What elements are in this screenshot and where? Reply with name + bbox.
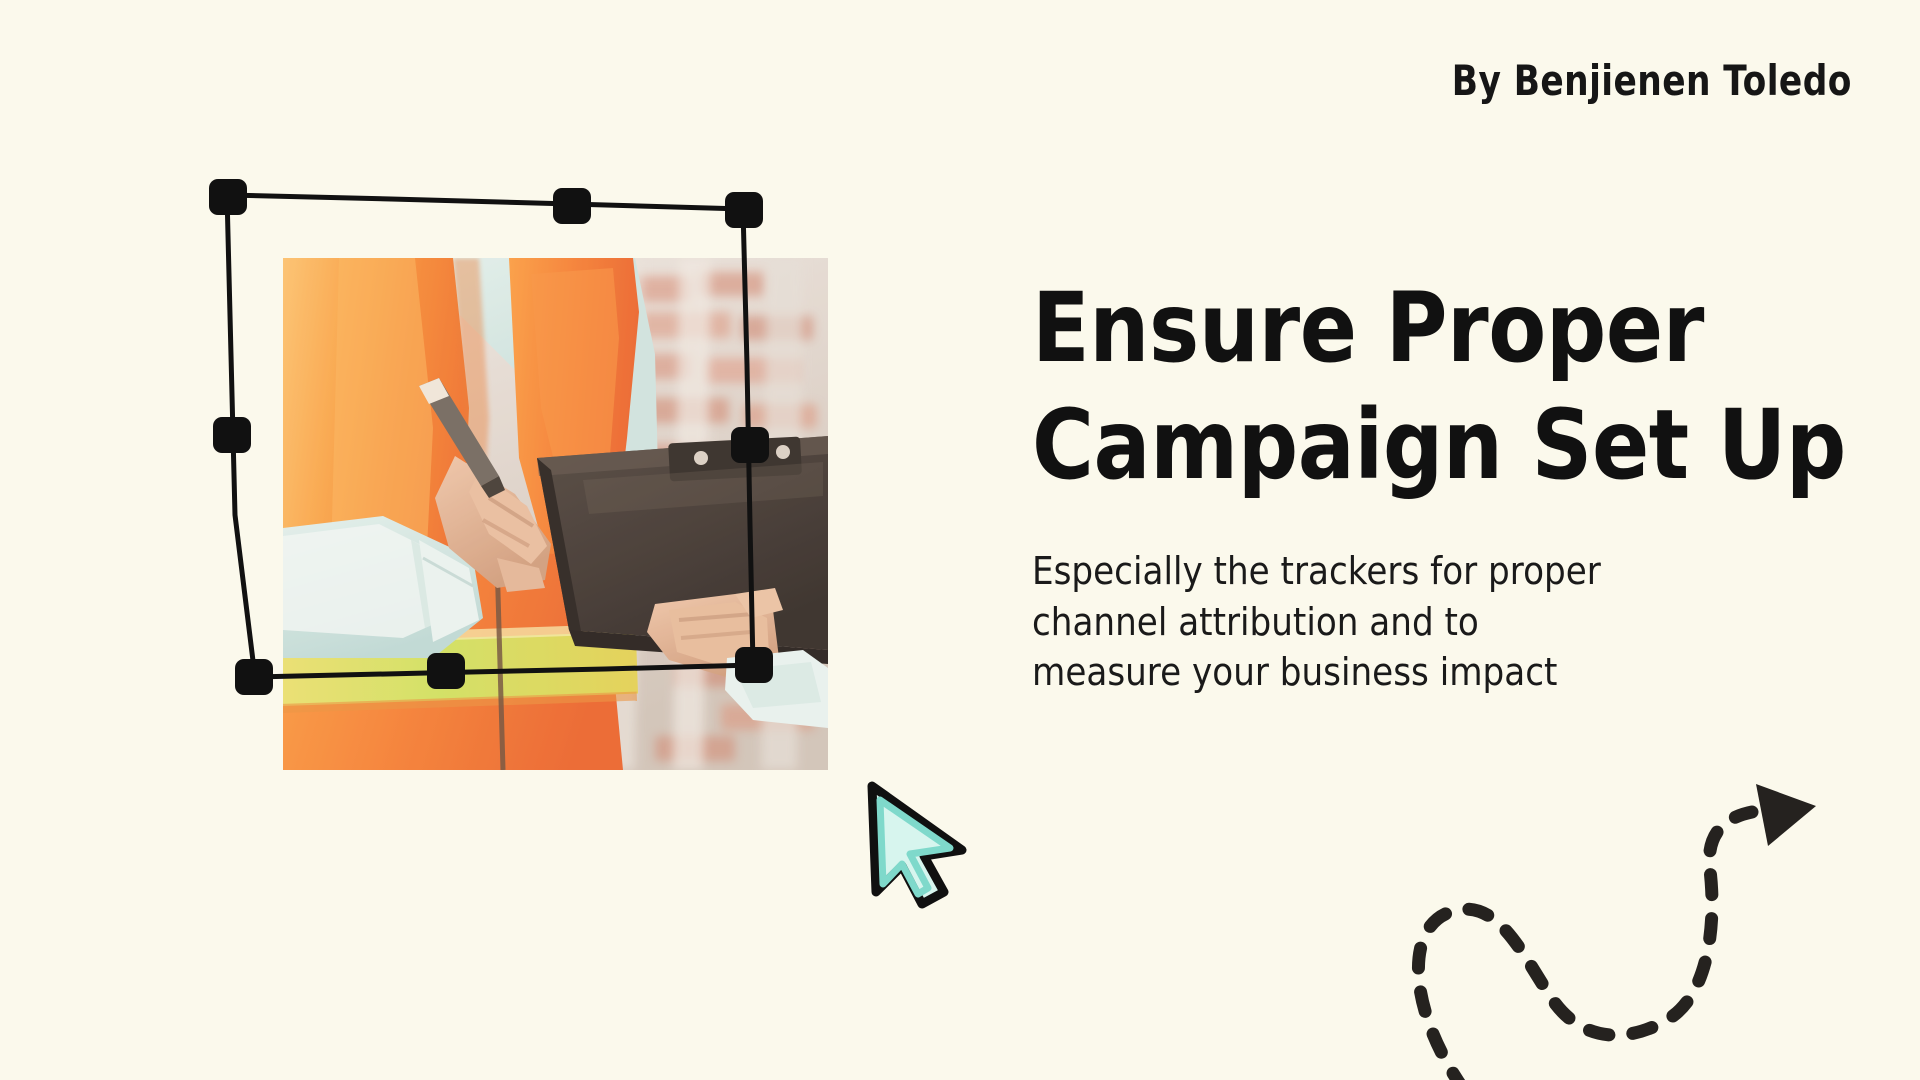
page-subtitle-line-1: Especially the trackers for proper xyxy=(1032,546,1752,597)
image-placeholder[interactable] xyxy=(215,195,915,835)
handle-top-center[interactable] xyxy=(553,188,591,224)
page-title-line-1: Ensure Proper xyxy=(1032,270,1736,387)
byline: By Benjienen Toledo xyxy=(1452,56,1852,105)
slide-canvas: By Benjienen Toledo xyxy=(0,0,1920,1080)
handle-bottom-left[interactable] xyxy=(235,659,273,695)
worker-photo[interactable] xyxy=(283,258,828,770)
dashed-curved-arrow-icon xyxy=(1380,760,1840,1080)
page-subtitle-line-2: channel attribution and to xyxy=(1032,597,1752,648)
page-title: Ensure Proper Campaign Set Up xyxy=(1032,270,1736,504)
page-subtitle: Especially the trackers for proper chann… xyxy=(1032,546,1752,698)
handle-top-right[interactable] xyxy=(725,192,763,228)
page-subtitle-line-3: measure your business impact xyxy=(1032,647,1752,698)
handle-top-left[interactable] xyxy=(209,179,247,215)
handle-middle-left[interactable] xyxy=(213,417,251,453)
decorative-arrow xyxy=(1380,760,1840,1080)
worker-photo-graphic xyxy=(283,258,828,770)
page-title-line-2: Campaign Set Up xyxy=(1032,387,1736,504)
text-column: Ensure Proper Campaign Set Up Especially… xyxy=(1032,270,1832,698)
